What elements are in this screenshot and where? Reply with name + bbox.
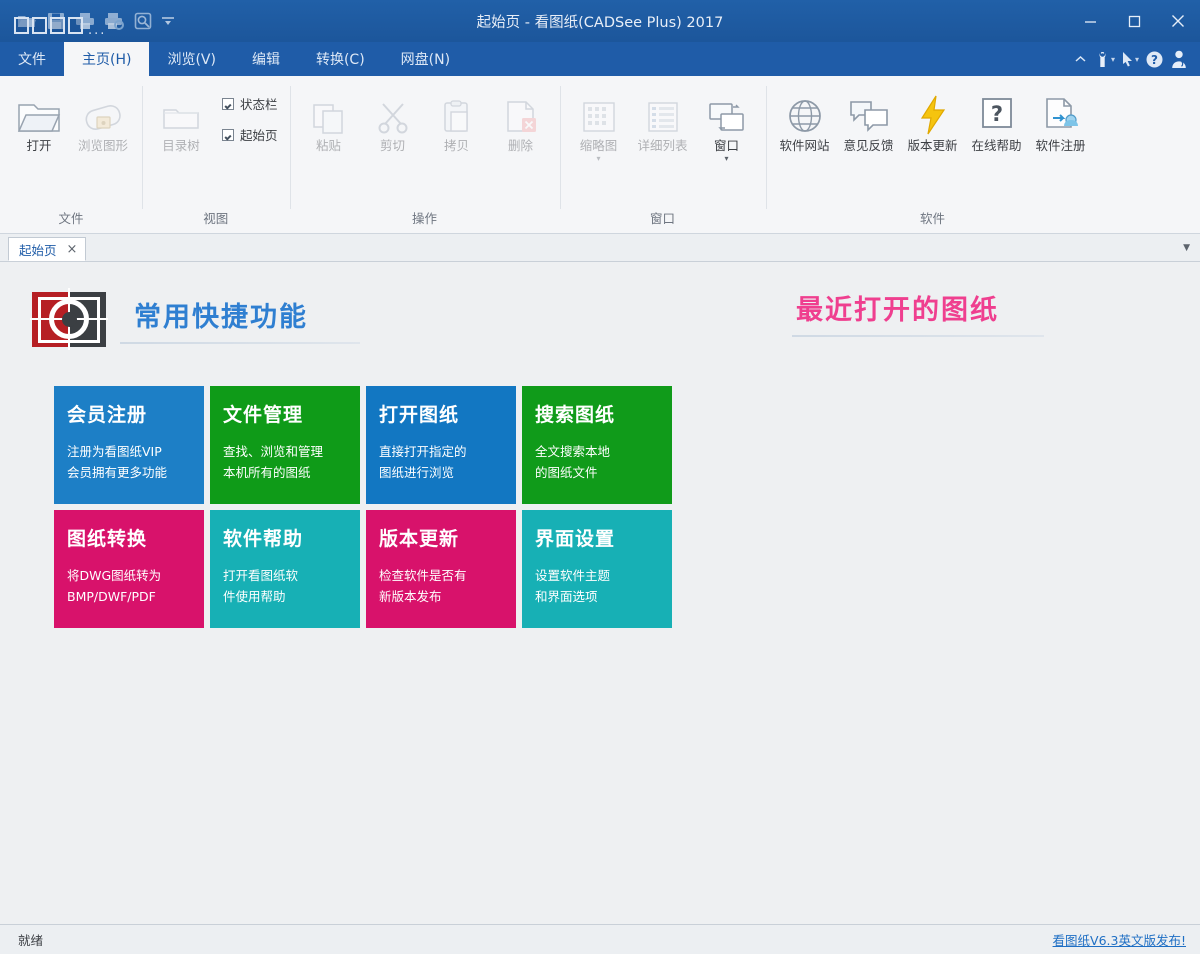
ribbon-group-operations: 粘贴 剪切 拷贝 删除	[290, 80, 560, 233]
tile-title: 版本更新	[379, 524, 503, 551]
tile-desc-line1: 检查软件是否有	[379, 565, 503, 586]
ribbon-button-online-help[interactable]: ? 在线帮助	[966, 88, 1028, 157]
ribbon-group-label: 操作	[298, 208, 552, 231]
wrench-icon[interactable]: ▾	[1093, 42, 1117, 76]
menu-tab-edit[interactable]: 编辑	[234, 42, 298, 76]
window-cascade-icon	[705, 92, 749, 136]
tile-desc-line1: 将DWG图纸转为	[67, 565, 191, 586]
tile-desc-line2: 本机所有的图纸	[223, 462, 347, 483]
ribbon-button-label: 软件注册	[1036, 139, 1086, 153]
status-announcement-link[interactable]: 看图纸V6.3英文版发布!	[1053, 930, 1186, 949]
view-options: 状态栏 起始页	[214, 88, 282, 144]
chevron-down-icon: ▾	[1111, 55, 1115, 64]
shortcuts-pane: 常用快捷功能 会员注册 注册为看图纸VIP 会员拥有更多功能 文件管理 查找、浏…	[0, 262, 760, 628]
shortcuts-header: 常用快捷功能	[30, 288, 760, 350]
qat-save-button[interactable]	[43, 8, 69, 34]
ribbon-button-register[interactable]: 软件注册	[1030, 88, 1092, 157]
ribbon-button-feedback[interactable]: 意见反馈	[838, 88, 900, 157]
ribbon-group-file: 打开 浏览图形 文件	[0, 80, 142, 233]
ribbon-group-window: 缩略图 ▾ 详细列表 窗口 ▾ 窗口	[560, 80, 766, 233]
shortcut-tiles: 会员注册 注册为看图纸VIP 会员拥有更多功能 文件管理 查找、浏览和管理 本机…	[54, 386, 760, 628]
ribbon-button-folder-tree[interactable]: 目录树	[150, 88, 212, 157]
thumbnail-grid-icon	[579, 92, 619, 136]
open-folder-icon	[17, 92, 61, 136]
tile-title: 文件管理	[223, 400, 347, 427]
menu-tab-label: 主页(H)	[82, 49, 131, 69]
tile-desc-line1: 直接打开指定的	[379, 441, 503, 462]
application-window: ... 起始页 - 看图纸(CADSee Plus) 2017 文件 主页(H)…	[0, 0, 1200, 954]
ribbon-button-label: 删除	[508, 139, 533, 153]
document-tab-startpage[interactable]: 起始页 ×	[8, 237, 86, 261]
title-bar: ... 起始页 - 看图纸(CADSee Plus) 2017	[0, 0, 1200, 42]
ribbon-button-cut[interactable]: 剪切	[362, 88, 424, 157]
document-tab-strip: 起始页 × ▼	[0, 234, 1200, 262]
window-controls	[1068, 0, 1200, 42]
ribbon-group-label: 软件	[774, 208, 1092, 231]
tile-desc-line1: 全文搜索本地	[535, 441, 659, 462]
feedback-bubbles-icon	[847, 92, 891, 136]
tile-desc-line2: 和界面选项	[535, 586, 659, 607]
close-icon[interactable]: ×	[67, 243, 78, 256]
folder-tree-icon	[159, 92, 203, 136]
ribbon-button-label: 缩略图	[580, 139, 618, 153]
ribbon-button-label: 意见反馈	[844, 139, 894, 153]
document-tab-label: 起始页	[19, 240, 57, 259]
recent-files-pane: 最近打开的图纸	[760, 262, 1200, 628]
tile-desc-line2: BMP/DWF/PDF	[67, 586, 191, 607]
chevron-down-icon: ▾	[1135, 55, 1139, 64]
tile-software-help[interactable]: 软件帮助 打开看图纸软 件使用帮助	[210, 510, 360, 628]
ribbon-button-copy[interactable]: 拷贝	[426, 88, 488, 157]
browse-drawing-icon	[80, 92, 126, 136]
ribbon-button-thumbnail[interactable]: 缩略图 ▾	[568, 88, 630, 166]
copy-icon	[437, 92, 477, 136]
checkbox-box	[222, 129, 234, 141]
ribbon-button-label: 剪切	[380, 139, 405, 153]
scissors-icon	[373, 92, 413, 136]
checkbox-statusbar[interactable]: 状态栏	[222, 94, 278, 113]
lightning-bolt-icon	[916, 92, 950, 136]
chevron-down-icon[interactable]: ▼	[1183, 243, 1200, 253]
menu-tab-label: 文件	[18, 49, 46, 69]
tile-ui-settings[interactable]: 界面设置 设置软件主题 和界面选项	[522, 510, 672, 628]
ribbon-button-window[interactable]: 窗口 ▾	[696, 88, 758, 166]
checkbox-label: 状态栏	[240, 94, 278, 113]
start-page-panes: 常用快捷功能 会员注册 注册为看图纸VIP 会员拥有更多功能 文件管理 查找、浏…	[0, 262, 1200, 628]
menu-tab-cloud[interactable]: 网盘(N)	[383, 42, 468, 76]
tile-title: 图纸转换	[67, 524, 191, 551]
ribbon-button-browse-drawing[interactable]: 浏览图形	[72, 88, 134, 157]
cadsee-logo	[30, 288, 108, 350]
start-page: 常用快捷功能 会员注册 注册为看图纸VIP 会员拥有更多功能 文件管理 查找、浏…	[0, 262, 1200, 924]
detail-list-icon	[643, 92, 683, 136]
ribbon-group-label: 文件	[8, 208, 134, 231]
question-mark-icon: ?	[977, 92, 1017, 136]
tile-version-update[interactable]: 版本更新 检查软件是否有 新版本发布	[366, 510, 516, 628]
ribbon-group-label: 视图	[150, 208, 282, 231]
qat-print-preview-button[interactable]	[101, 8, 127, 34]
tile-search-drawing[interactable]: 搜索图纸 全文搜索本地 的图纸文件	[522, 386, 672, 504]
ribbon-button-label: 浏览图形	[78, 139, 128, 153]
tile-desc-line2: 图纸进行浏览	[379, 462, 503, 483]
collapse-ribbon-icon[interactable]	[1071, 42, 1091, 76]
chevron-down-icon: ▾	[725, 156, 729, 162]
menu-tab-label: 网盘(N)	[401, 49, 450, 69]
ribbon-group-software: 软件网站 意见反馈 版本更新 ?	[766, 80, 1100, 233]
maximize-button[interactable]	[1112, 0, 1156, 42]
menu-tab-home[interactable]: 主页(H)	[64, 42, 149, 76]
recent-files-title: 最近打开的图纸	[782, 288, 1200, 335]
quick-access-toolbar: ...	[0, 0, 177, 42]
register-user-icon	[1040, 92, 1082, 136]
shortcuts-title: 常用快捷功能	[120, 295, 360, 342]
tile-desc-line1: 注册为看图纸VIP	[67, 441, 191, 462]
menu-tab-view[interactable]: 浏览(V)	[149, 42, 234, 76]
ribbon-button-detail-list[interactable]: 详细列表	[632, 88, 694, 157]
tile-desc-line1: 设置软件主题	[535, 565, 659, 586]
shortcuts-title-rule	[120, 342, 360, 344]
shortcuts-title-wrap: 常用快捷功能	[120, 295, 360, 344]
status-bar: 就绪 看图纸V6.3英文版发布!	[0, 924, 1200, 954]
tile-member-register[interactable]: 会员注册 注册为看图纸VIP 会员拥有更多功能	[54, 386, 204, 504]
delete-file-icon	[501, 92, 541, 136]
qat-customize-button[interactable]	[159, 10, 177, 32]
qat-print-button[interactable]	[72, 8, 98, 34]
cursor-icon[interactable]: ▾	[1119, 42, 1141, 76]
svg-text:?: ?	[990, 102, 1002, 126]
ribbon-button-label: 粘贴	[316, 139, 341, 153]
ribbon-button-delete[interactable]: 删除	[490, 88, 552, 157]
help-circle-icon[interactable]: ?	[1143, 42, 1166, 76]
qat-open-file-button[interactable]	[14, 8, 40, 34]
logo-center-dot	[62, 312, 77, 327]
tile-desc-line2: 会员拥有更多功能	[67, 462, 191, 483]
ribbon-button-label: 在线帮助	[972, 139, 1022, 153]
minimize-button[interactable]	[1068, 0, 1112, 42]
checkbox-label: 起始页	[240, 125, 278, 144]
checkbox-box	[222, 98, 234, 110]
tile-desc-line2: 新版本发布	[379, 586, 503, 607]
ribbon-button-paste[interactable]: 粘贴	[298, 88, 360, 157]
tile-title: 界面设置	[535, 524, 659, 551]
svg-text:?: ?	[1151, 53, 1158, 67]
menu-tab-convert[interactable]: 转换(C)	[298, 42, 383, 76]
menu-tab-label: 浏览(V)	[167, 49, 216, 69]
ribbon-button-label: 目录树	[162, 139, 200, 153]
recent-files-title-rule	[792, 335, 1044, 337]
tile-title: 打开图纸	[379, 400, 503, 427]
ribbon-button-label: 拷贝	[444, 139, 469, 153]
ribbon-tab-bar: 文件 主页(H) 浏览(V) 编辑 转换(C) 网盘(N) ▾	[0, 42, 1200, 76]
tile-convert-drawing[interactable]: 图纸转换 将DWG图纸转为 BMP/DWF/PDF	[54, 510, 204, 628]
tile-desc-line2: 的图纸文件	[535, 462, 659, 483]
ribbon-right-tools: ▾ ▾ ?	[1071, 42, 1200, 76]
ribbon-group-label: 窗口	[568, 208, 758, 231]
ribbon-button-label: 窗口	[714, 139, 739, 153]
ribbon-group-view: 目录树 状态栏 起始页 视图	[142, 80, 290, 233]
menu-tab-label: 编辑	[252, 49, 280, 69]
ribbon-button-website[interactable]: 软件网站	[774, 88, 836, 157]
checkbox-startpage[interactable]: 起始页	[222, 125, 278, 144]
paste-icon	[309, 92, 349, 136]
window-title: 起始页 - 看图纸(CADSee Plus) 2017	[0, 0, 1200, 42]
close-button[interactable]	[1156, 0, 1200, 42]
ribbon-button-version-update[interactable]: 版本更新	[902, 88, 964, 157]
tile-desc-line1: 查找、浏览和管理	[223, 441, 347, 462]
user-account-icon[interactable]	[1168, 42, 1190, 76]
ribbon-button-label: 版本更新	[908, 139, 958, 153]
tile-title: 会员注册	[67, 400, 191, 427]
tile-open-drawing[interactable]: 打开图纸 直接打开指定的 图纸进行浏览	[366, 386, 516, 504]
ribbon-button-open[interactable]: 打开	[8, 88, 70, 157]
tile-file-manage[interactable]: 文件管理 查找、浏览和管理 本机所有的图纸	[210, 386, 360, 504]
tile-desc-line2: 件使用帮助	[223, 586, 347, 607]
qat-find-zoom-button[interactable]	[130, 8, 156, 34]
menu-tab-file[interactable]: 文件	[0, 42, 64, 76]
menu-tab-label: 转换(C)	[316, 49, 365, 69]
ribbon-button-label: 软件网站	[780, 139, 830, 153]
tile-title: 搜索图纸	[535, 400, 659, 427]
status-message: 就绪	[18, 930, 43, 949]
ribbon: 打开 浏览图形 文件 目录树	[0, 76, 1200, 234]
tile-desc-line1: 打开看图纸软	[223, 565, 347, 586]
globe-icon	[784, 92, 826, 136]
chevron-down-icon: ▾	[597, 156, 601, 162]
tile-title: 软件帮助	[223, 524, 347, 551]
ribbon-button-label: 打开	[26, 139, 51, 153]
ribbon-button-label: 详细列表	[638, 139, 688, 153]
